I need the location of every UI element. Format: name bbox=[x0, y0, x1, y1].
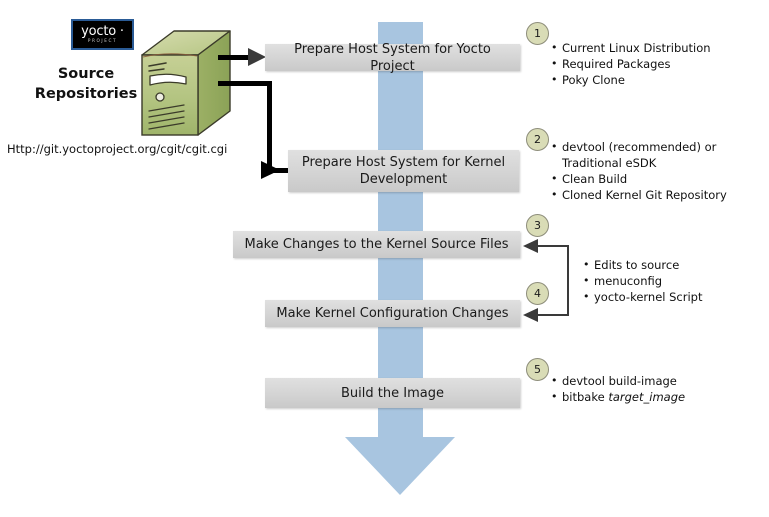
process-box-step2[interactable]: Prepare Host System for Kernel Developme… bbox=[288, 150, 519, 192]
note-item: Required Packages bbox=[551, 56, 761, 72]
connector-source-to-step2-segment-v bbox=[267, 81, 272, 173]
note-item: devtool build-image bbox=[551, 373, 761, 389]
process-box-step4[interactable]: Make Kernel Configuration Changes bbox=[265, 300, 520, 327]
note-item: yocto-kernel Script bbox=[583, 289, 763, 305]
connector-source-to-step1-arrowhead bbox=[248, 48, 266, 66]
logo-wordmark: yocto · bbox=[81, 25, 124, 38]
step-number-5: 5 bbox=[526, 358, 549, 381]
diagram-canvas: yocto · PROJECT Source Repositories Http… bbox=[0, 0, 769, 517]
process-box-step3[interactable]: Make Changes to the Kernel Source Files bbox=[233, 231, 520, 258]
note-item: devtool (recommended) or Traditional eSD… bbox=[551, 139, 765, 171]
source-repositories-url: Http://git.yoctoproject.org/cgit/cgit.cg… bbox=[7, 142, 227, 156]
connector-source-to-step2-segment-h1 bbox=[218, 81, 272, 86]
note-prefix: bitbake bbox=[562, 390, 608, 404]
note-item: Clean Build bbox=[551, 171, 765, 187]
feedback-bracket-vertical bbox=[567, 245, 569, 316]
connector-source-to-step1-line bbox=[218, 55, 252, 60]
note-item: Poky Clone bbox=[551, 72, 761, 88]
main-flow-arrow-head bbox=[345, 437, 455, 495]
source-label-line1: Source bbox=[30, 64, 142, 84]
notes-step2: devtool (recommended) or Traditional eSD… bbox=[551, 139, 765, 203]
connector-source-to-step2-arrowhead bbox=[261, 161, 280, 179]
note-item: bitbake target_image bbox=[551, 389, 761, 405]
logo-subtext: PROJECT bbox=[88, 39, 117, 43]
feedback-arrowhead-to-step4 bbox=[523, 308, 538, 322]
step-number-4: 4 bbox=[526, 282, 549, 305]
process-box-step5[interactable]: Build the Image bbox=[265, 378, 520, 408]
process-box-step1[interactable]: Prepare Host System for Yocto Project bbox=[265, 44, 520, 71]
notes-step5: devtool build-image bitbake target_image bbox=[551, 373, 761, 405]
step-number-2: 2 bbox=[526, 128, 549, 151]
source-label-line2: Repositories bbox=[30, 84, 142, 104]
step-number-1: 1 bbox=[526, 22, 549, 45]
feedback-bracket-bottom-segment bbox=[538, 314, 568, 316]
notes-steps3-4: Edits to source menuconfig yocto-kernel … bbox=[583, 257, 763, 305]
note-item: menuconfig bbox=[583, 273, 763, 289]
notes-step1: Current Linux Distribution Required Pack… bbox=[551, 40, 761, 88]
step-number-3: 3 bbox=[526, 214, 549, 237]
yocto-project-logo: yocto · PROJECT bbox=[71, 19, 134, 50]
note-item: Edits to source bbox=[583, 257, 763, 273]
source-repositories-label: Source Repositories bbox=[30, 64, 142, 104]
note-item: Current Linux Distribution bbox=[551, 40, 761, 56]
note-item: Cloned Kernel Git Repository bbox=[551, 187, 765, 203]
feedback-bracket-top-segment bbox=[538, 245, 568, 247]
note-italic-target: target_image bbox=[608, 390, 685, 404]
feedback-arrowhead-to-step3 bbox=[523, 239, 538, 253]
